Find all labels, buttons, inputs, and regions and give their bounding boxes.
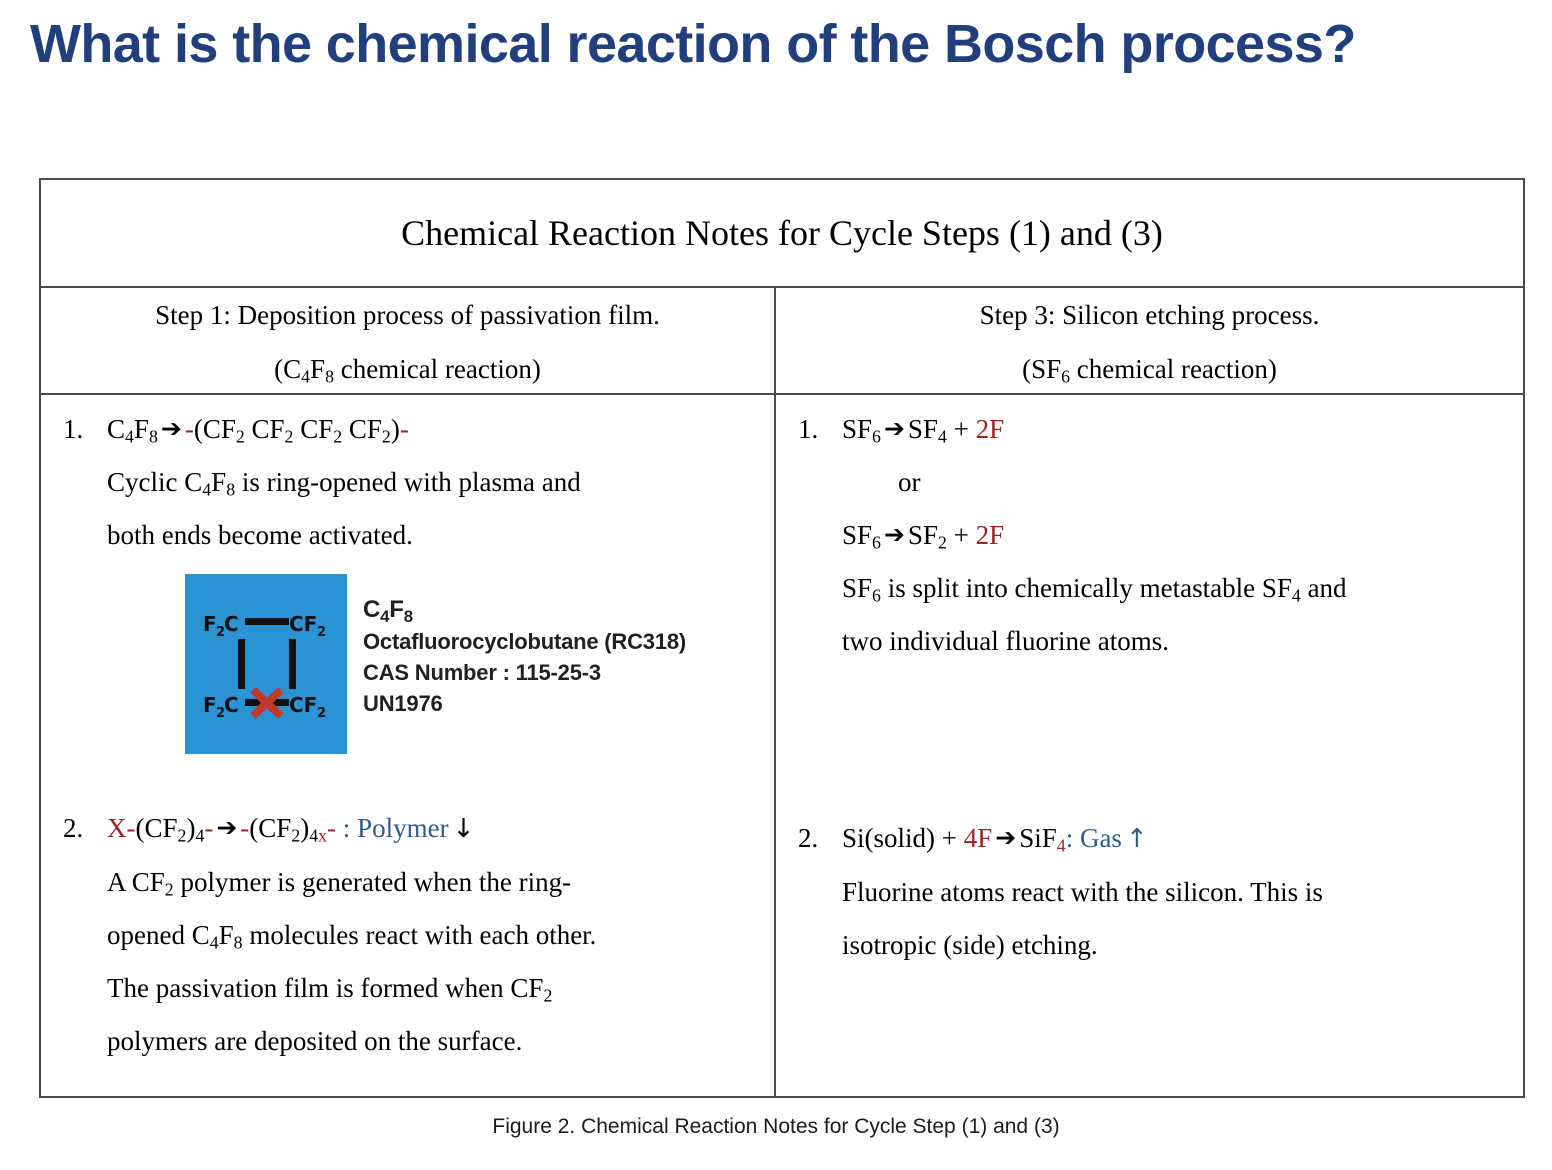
step1-item-2-desc-line1: A CF2 polymer is generated when the ring… [107,856,760,909]
eq-r1b-sf: SF [842,520,872,550]
molecule-formula-sub8: 8 [404,607,413,626]
molecule-formula: C4F8 [363,594,686,625]
molecule-un-number: UN1976 [363,688,686,719]
eq-l2-paren-open-1: ( [136,813,145,843]
eq-r1b-2f: 2F [976,520,1005,550]
step3-item-1-equation-a: SF6➔SF4 + 2F [842,403,1509,456]
step1-item-2-desc-line4: polymers are deposited on the surface. [107,1015,760,1068]
desc-l2-a: A CF [107,867,165,897]
step3-subhead-post: chemical reaction) [1070,354,1277,384]
desc-l1-b: F [211,467,226,497]
step1-item-2-desc-line3: The passivation film is formed when CF2 [107,962,760,1015]
molecule-caption: C4F8 Octafluorocyclobutane (RC318) CAS N… [363,594,686,719]
right-arrow-icon: ➔ [158,414,185,443]
svg-text:C: C [224,612,239,636]
arrow-down-icon: ↓ [449,814,475,844]
right-arrow-icon: ➔ [881,414,908,443]
step3-item-1-desc-line1: SF6 is split into chemically metastable … [842,562,1509,615]
step1-subhead-post: chemical reaction) [334,354,541,384]
desc-l2-l2c: molecules react with each other. [243,920,597,950]
right-arrow-icon: ➔ [213,813,240,842]
desc-l1-sub2: 8 [226,480,235,500]
desc-r1-a: SF [842,573,872,603]
eq-r2-gas: Gas [1080,823,1122,853]
figure-caption: Figure 2. Chemical Reaction Notes for Cy… [0,1113,1552,1141]
svg-text:C: C [224,693,239,717]
step3-item-2-desc-line1: Fluorine atoms react with the silicon. T… [842,866,1509,919]
svg-text:CF: CF [289,693,317,717]
desc-r1-sub2: 4 [1292,586,1301,606]
column-body-step3: 1. SF6➔SF4 + 2F or SF6➔SF2 + 2F SF6 is s… [774,395,1523,1096]
eq-r2-sif: SiF4 [1019,823,1065,853]
eq-l2-cf-1: CF [145,813,178,843]
eq-r2-colon: : [1066,823,1074,853]
eq-l2-paren-close-2: ) [300,813,309,843]
molecule-formula-f: F [389,596,403,623]
eq-r2-plus: + [942,823,957,853]
eq-l1-paren-close: ) [391,414,400,444]
desc-l2-l3sub: 2 [543,986,552,1006]
step1-item-1-number: 1. [55,403,107,456]
column-header-step3: Step 3: Silicon etching process. (SF6 ch… [774,288,1523,393]
desc-l1-a: Cyclic C [107,467,202,497]
desc-l2-l3a: The passivation film is formed when CF [107,973,543,1003]
step3-item-2-desc-line2: isotropic (side) etching. [842,919,1509,972]
step3-item-1-number: 1. [790,403,842,456]
table-title: Chemical Reaction Notes for Cycle Steps … [41,211,1523,255]
eq-l1-cf-4: CF [349,414,382,444]
step3-item-1-desc-line2: two individual fluorine atoms. [842,615,1509,668]
step1-item-1-equation: C4F8➔-(CF2 CF2 CF2 CF2)- [107,403,760,456]
step1-item-2-desc-line2: opened C4F8 molecules react with each ot… [107,909,760,962]
step1-item-2-equation: X-(CF2)4-➔-(CF2)4x- : Polymer↓ [107,802,760,856]
page-title: What is the chemical reaction of the Bos… [30,12,1530,76]
eq-r1a-sub4: 4 [938,427,947,447]
eq-l2-dash-4: - [327,813,336,843]
eq-r1b-plus: + [954,520,969,550]
eq-r1a-plus: + [954,414,969,444]
step1-item-1-desc-line1: Cyclic C4F8 is ring-opened with plasma a… [107,456,760,509]
eq-l1-dash-close: - [400,414,409,444]
desc-l1-c: is ring-opened with plasma and [235,467,581,497]
molecule-cas-number: CAS Number : 115-25-3 [363,657,686,688]
step1-item-1-body: C4F8➔-(CF2 CF2 CF2 CF2)- Cyclic C4F8 is … [107,403,760,754]
eq-l1-c-sub: 4 [125,427,134,447]
step3-item-1: 1. SF6➔SF4 + 2F or SF6➔SF2 + 2F SF6 is s… [790,403,1509,668]
desc-l1-sub1: 4 [202,480,211,500]
step1-subhead-sub-4: 4 [301,367,310,387]
step3-item-2: 2. Si(solid) + 4F➔SiF4: Gas↑ Fluorine at… [790,812,1509,972]
step1-item-2: 2. X-(CF2)4-➔-(CF2)4x- : Polymer↓ A CF2 … [55,802,760,1068]
chemical-reaction-notes-table: Chemical Reaction Notes for Cycle Steps … [39,178,1525,1098]
octafluorocyclobutane-structure-icon: F 2 C CF 2 F 2 C CF 2 [185,574,347,754]
eq-l2-sub-4b: 4 [309,826,318,846]
eq-l2-x: X [107,813,127,843]
eq-l1-f-sub: 8 [149,427,158,447]
eq-l1-c: C [107,414,125,444]
eq-l2-dash-2: - [204,813,213,843]
eq-l1-dash-open: - [185,414,194,444]
table-subheader-row: Step 1: Deposition process of passivatio… [41,288,1523,395]
step1-subhead-line2: (C4F8 chemical reaction) [41,342,774,396]
eq-l2-sub-x: x [318,826,327,846]
table-body-row: 1. C4F8➔-(CF2 CF2 CF2 CF2)- Cyclic C4F8 … [41,395,1523,1096]
step1-item-1-desc-line2: both ends become activated. [107,509,760,562]
step1-subhead-sub-8: 8 [325,367,334,387]
desc-l2-sub: 2 [165,880,174,900]
desc-r1-c: and [1301,573,1347,603]
desc-l2-b: polymer is generated when the ring- [174,867,571,897]
eq-r1a-sub6: 6 [872,427,881,447]
step1-item-1: 1. C4F8➔-(CF2 CF2 CF2 CF2)- Cyclic C4F8 … [55,403,760,754]
step1-item-2-body: X-(CF2)4-➔-(CF2)4x- : Polymer↓ A CF2 pol… [107,802,760,1068]
eq-l1-cf-1: CF [203,414,236,444]
svg-text:CF: CF [289,612,317,636]
desc-r1-sub: 6 [872,586,881,606]
eq-l1-cf-2-sub: 2 [285,427,294,447]
right-arrow-icon: ➔ [992,823,1019,852]
eq-l2-colon: : [343,813,351,843]
svg-text:F: F [203,693,217,717]
desc-l2-l2sub1: 4 [210,933,219,953]
step3-item-2-body: Si(solid) + 4F➔SiF4: Gas↑ Fluorine atoms… [842,812,1509,972]
eq-l1-f: F [134,414,149,444]
column-header-step1: Step 1: Deposition process of passivatio… [41,288,774,393]
eq-r1a-2f: 2F [976,414,1005,444]
table-title-row: Chemical Reaction Notes for Cycle Steps … [41,180,1523,288]
eq-l1-cf-4-sub: 2 [382,427,391,447]
eq-r1b-sub6: 6 [872,533,881,553]
eq-l1-paren-open: ( [194,414,203,444]
molecule-name: Octafluorocyclobutane (RC318) [363,626,686,657]
step3-subhead-line2: (SF6 chemical reaction) [776,342,1523,396]
eq-r1b-sf2: SF [908,520,938,550]
step1-cell: 1. C4F8➔-(CF2 CF2 CF2 CF2)- Cyclic C4F8 … [41,395,774,1104]
eq-r2-4f: 4F [964,823,993,853]
eq-r1a-sf: SF [842,414,872,444]
eq-l2-dash-3: - [240,813,249,843]
step1-subhead-line1: Step 1: Deposition process of passivatio… [41,288,774,342]
step3-item-2-equation: Si(solid) + 4F➔SiF4: Gas↑ [842,812,1509,866]
step3-item-2-number: 2. [790,812,842,865]
eq-r2-si: Si(solid) [842,823,935,853]
desc-l2-l2b: F [219,920,234,950]
eq-l1-cf-3-sub: 2 [333,427,342,447]
right-arrow-icon: ➔ [881,520,908,549]
molecule-figure: F 2 C CF 2 F 2 C CF 2 [185,574,760,754]
eq-l2-sub-4a: 4 [195,826,204,846]
step3-item-1-or-label: or [842,456,1509,509]
svg-text:2: 2 [317,625,326,640]
eq-r1b-sub2: 2 [938,533,947,553]
eq-l1-cf-1-sub: 2 [236,427,245,447]
step3-subhead-sub-6: 6 [1061,367,1070,387]
eq-l2-paren-open-2: ( [249,813,258,843]
eq-r1a-sf4: SF [908,414,938,444]
eq-l2-dash-1: - [127,813,136,843]
step1-subhead-pre: (C [274,354,301,384]
eq-l2-cf-2: CF [258,813,291,843]
step3-item-1-equation-b: SF6➔SF2 + 2F [842,509,1509,562]
desc-l2-l2a: opened C [107,920,210,950]
eq-l1-cf-2: CF [252,414,285,444]
step1-item-2-number: 2. [55,802,107,855]
eq-r2-sif-sub4: 4 [1057,836,1066,856]
eq-r2-sif-text: SiF [1019,823,1057,853]
svg-text:2: 2 [317,706,326,721]
desc-l2-l2sub2: 8 [234,933,243,953]
molecule-formula-sub4: 4 [380,607,389,626]
desc-r1-b: is split into chemically metastable SF [881,573,1292,603]
eq-l2-polymer: Polymer [357,813,449,843]
column-body-step1: 1. C4F8➔-(CF2 CF2 CF2 CF2)- Cyclic C4F8 … [41,395,774,1096]
step1-subhead-mid: F [310,354,325,384]
molecule-formula-c: C [363,596,380,623]
svg-text:F: F [203,612,217,636]
eq-l1-cf-3: CF [300,414,333,444]
step3-subhead-pre: (SF [1022,354,1061,384]
step3-subhead-line1: Step 3: Silicon etching process. [776,288,1523,342]
step3-cell: 1. SF6➔SF4 + 2F or SF6➔SF2 + 2F SF6 is s… [776,395,1523,1104]
step3-item-1-body: SF6➔SF4 + 2F or SF6➔SF2 + 2F SF6 is spli… [842,403,1509,668]
eq-l2-cf-2-sub: 2 [291,826,300,846]
arrow-up-icon: ↑ [1122,824,1148,854]
